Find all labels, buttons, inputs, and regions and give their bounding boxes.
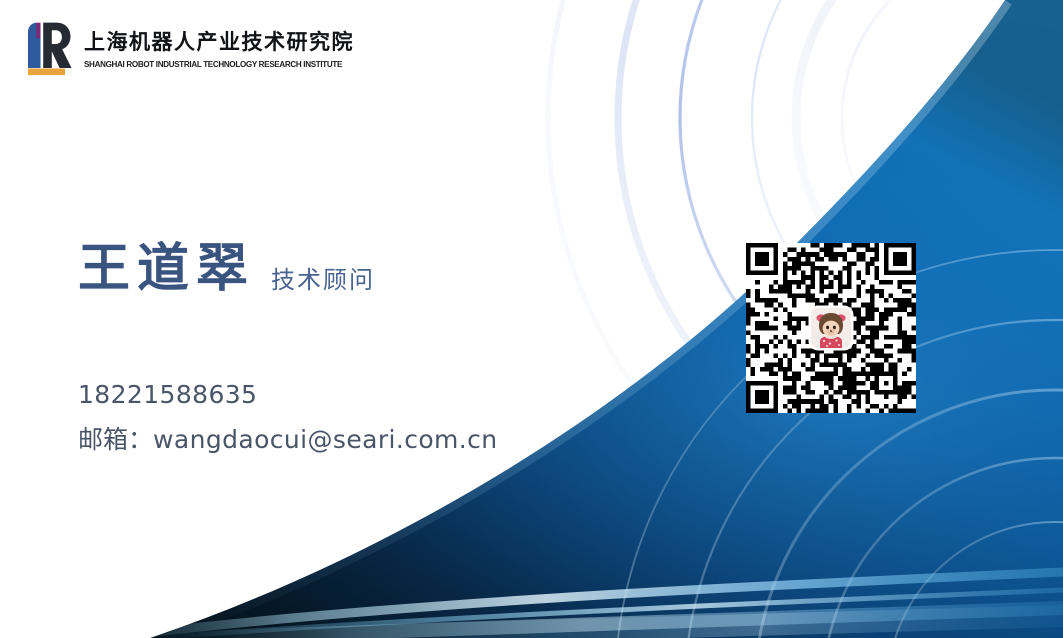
company-logo-block: 上海机器人产业技术研究院 SHANGHAI ROBOT INDUSTRIAL T… [22,18,359,80]
contact-block: 18221588635 邮箱：wangdaocui@seari.com.cn [78,378,498,456]
email-label: 邮箱： [78,425,153,454]
wechat-qr-code[interactable] [746,243,916,413]
doll-avatar-illustration [811,308,851,348]
ir-logo-icon [22,18,74,80]
company-name-cn: 上海机器人产业技术研究院 [84,31,359,55]
doll-avatar [811,308,851,348]
person-identity-row: 王道翠 技术顾问 [78,243,375,295]
business-card: 上海机器人产业技术研究院 SHANGHAI ROBOT INDUSTRIAL T… [0,0,1063,638]
company-name-en: SHANGHAI ROBOT INDUSTRIAL TECHNOLOGY RES… [84,60,342,69]
email-row[interactable]: 邮箱：wangdaocui@seari.com.cn [78,423,498,456]
person-name: 王道翠 [78,243,255,295]
person-job-title: 技术顾问 [271,268,375,295]
email-address[interactable]: wangdaocui@seari.com.cn [153,425,498,454]
phone-number[interactable]: 18221588635 [78,378,498,411]
